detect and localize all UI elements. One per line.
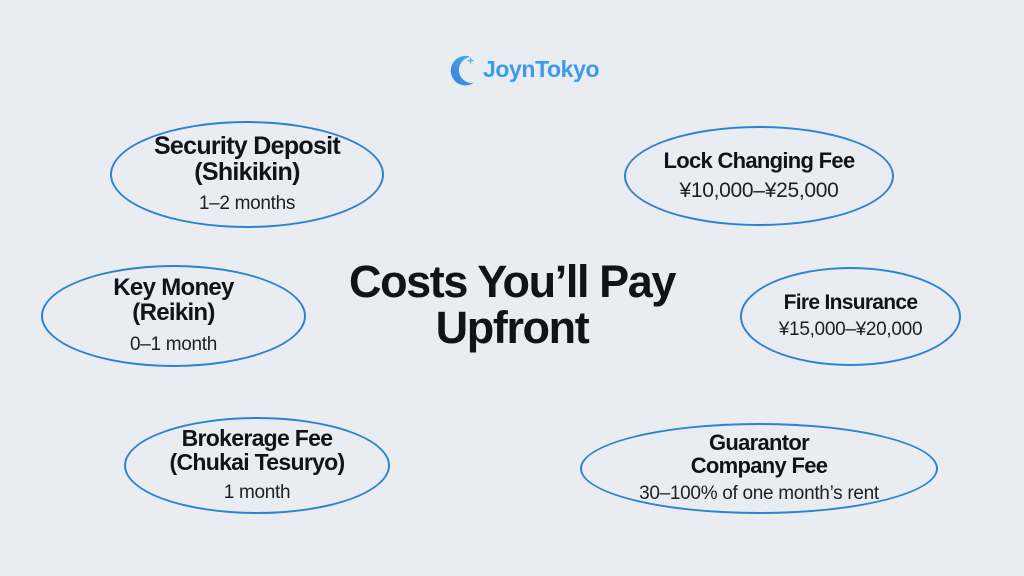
crescent-moon-sparkle-icon [445, 52, 479, 86]
cost-bubble-lock-changing-fee: Lock Changing Fee ¥10,000–¥25,000 [624, 126, 894, 226]
cost-value: 1 month [224, 483, 291, 504]
cost-value: ¥10,000–¥25,000 [680, 179, 839, 202]
ellipse-outline [740, 267, 961, 366]
cost-title: Security Deposit (Shikikin) [154, 134, 340, 186]
cost-bubble-fire-insurance: Fire Insurance ¥15,000–¥20,000 [740, 267, 961, 366]
infographic-canvas: JoynTokyo Costs You’ll Pay Upfront Secur… [0, 0, 1024, 576]
cost-bubble-guarantor-company-fee: Guarantor Company Fee 30–100% of one mon… [580, 423, 938, 514]
cost-title: Brokerage Fee (Chukai Tesuryo) [107, 427, 407, 474]
cost-bubble-key-money: Key Money (Reikin) 0–1 month [41, 265, 306, 367]
cost-title: Guarantor Company Fee [691, 432, 828, 477]
brand-wordmark: JoynTokyo [483, 58, 599, 81]
cost-title: Fire Insurance [726, 292, 976, 314]
cost-value: 1–2 months [199, 194, 295, 215]
ellipse-outline [624, 126, 894, 226]
cost-value: 30–100% of one month’s rent [639, 484, 879, 505]
cost-title: Lock Changing Fee [663, 150, 854, 173]
cost-bubble-brokerage-fee: Brokerage Fee (Chukai Tesuryo) 1 month [124, 417, 390, 514]
cost-bubble-security-deposit: Security Deposit (Shikikin) 1–2 months [110, 121, 384, 228]
brand-logo: JoynTokyo [445, 52, 599, 86]
cost-value: ¥15,000–¥20,000 [726, 320, 976, 341]
cost-title: Key Money (Reikin) [113, 276, 233, 325]
cost-value: 0–1 month [130, 335, 217, 356]
